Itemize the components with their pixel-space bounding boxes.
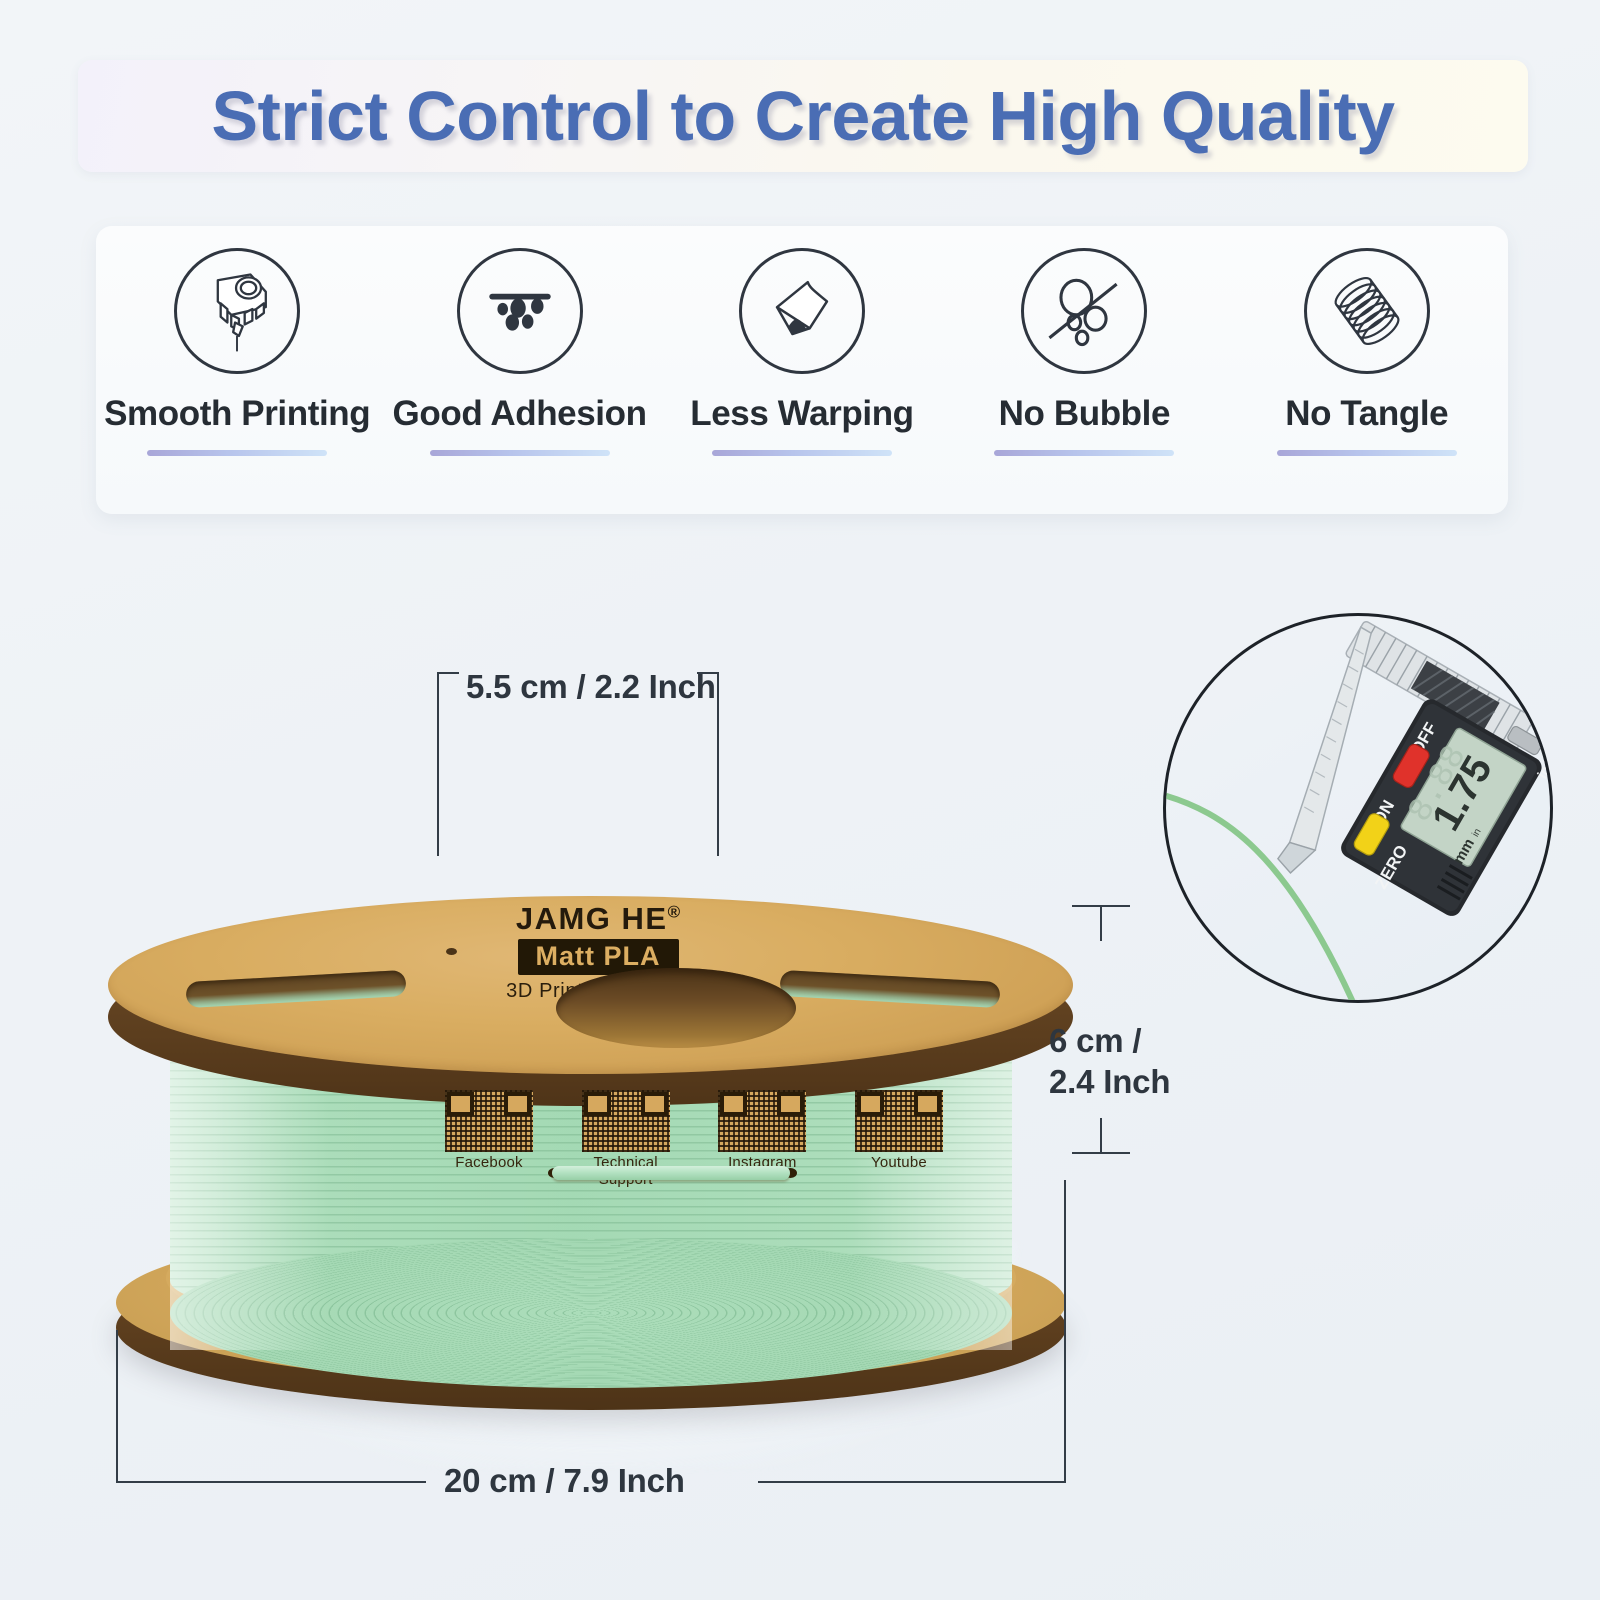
feature-label: Smooth Printing xyxy=(104,394,370,434)
dimension-extension-line xyxy=(1064,1180,1066,1482)
qr-item: Youtube xyxy=(844,1090,954,1189)
dimension-extension-line xyxy=(437,684,439,856)
feature-highlights-card: Smooth Printing Good Adhesion xyxy=(96,226,1508,514)
feature-less-warping: Less Warping xyxy=(668,248,936,456)
outer-diameter-label: 20 cm / 7.9 Inch xyxy=(444,1462,685,1500)
feature-good-adhesion: Good Adhesion xyxy=(386,248,654,456)
dimension-extension-line xyxy=(717,684,719,856)
dimension-line xyxy=(116,1481,426,1483)
filament-winding-bottom-curve xyxy=(170,1238,1012,1388)
feature-no-tangle: No Tangle xyxy=(1233,248,1501,456)
qr-code-image xyxy=(718,1090,806,1152)
feature-underline xyxy=(1277,450,1457,456)
qr-caption: Facebook xyxy=(434,1155,544,1172)
no-bubble-icon xyxy=(1021,248,1147,374)
qr-item: Facebook xyxy=(434,1090,544,1189)
brand-name-row: JAMG HE® xyxy=(438,903,758,934)
feature-underline xyxy=(994,450,1174,456)
qr-code-image xyxy=(445,1090,533,1152)
filament-spool: JAMG HE® Matt PLA 3D Printer Filament Fa… xyxy=(108,700,1073,1400)
brand-name: JAMG HE xyxy=(516,901,668,936)
feature-label: Less Warping xyxy=(690,394,913,434)
dimension-extension-line xyxy=(116,1330,118,1482)
warping-sheet-icon xyxy=(739,248,865,374)
adhesion-dots-icon xyxy=(457,248,583,374)
filament-end-strand xyxy=(552,1166,790,1180)
feature-smooth-printing: Smooth Printing xyxy=(103,248,371,456)
feature-no-bubble: No Bubble xyxy=(950,248,1218,456)
dimension-extension-line xyxy=(1100,1118,1102,1154)
dimension-line xyxy=(758,1481,1066,1483)
registered-trademark-symbol: ® xyxy=(668,903,681,922)
caliper-detail-inset: 8.88 1.75 mm in in/mm OFF ON xyxy=(1163,613,1553,1003)
feature-underline xyxy=(430,450,610,456)
feature-label: No Tangle xyxy=(1285,394,1448,434)
dimension-arrow-cap xyxy=(437,672,459,674)
feature-label: No Bubble xyxy=(999,394,1170,434)
hub-diameter-label: 5.5 cm / 2.2 Inch xyxy=(466,668,716,706)
page-title: Strict Control to Create High Quality xyxy=(211,76,1394,156)
product-infographic: Strict Control to Create High Quality Sm… xyxy=(0,0,1600,1600)
no-tangle-spool-icon xyxy=(1304,248,1430,374)
feature-underline xyxy=(147,450,327,456)
title-banner: Strict Control to Create High Quality xyxy=(78,60,1528,172)
qr-code-image xyxy=(855,1090,943,1152)
spool-height-line-1: 6 cm / xyxy=(1049,1020,1189,1061)
feature-underline xyxy=(712,450,892,456)
qr-code-image xyxy=(582,1090,670,1152)
spool-height-label: 6 cm / 2.4 Inch xyxy=(1049,1020,1189,1103)
printer-nozzle-icon xyxy=(174,248,300,374)
dimension-extension-line xyxy=(1100,905,1102,941)
spool-height-line-2: 2.4 Inch xyxy=(1049,1061,1189,1102)
feature-label: Good Adhesion xyxy=(393,394,647,434)
dimension-arrow-cap xyxy=(697,672,719,674)
qr-caption: Youtube xyxy=(844,1155,954,1172)
spool-hub-hole xyxy=(556,968,796,1048)
